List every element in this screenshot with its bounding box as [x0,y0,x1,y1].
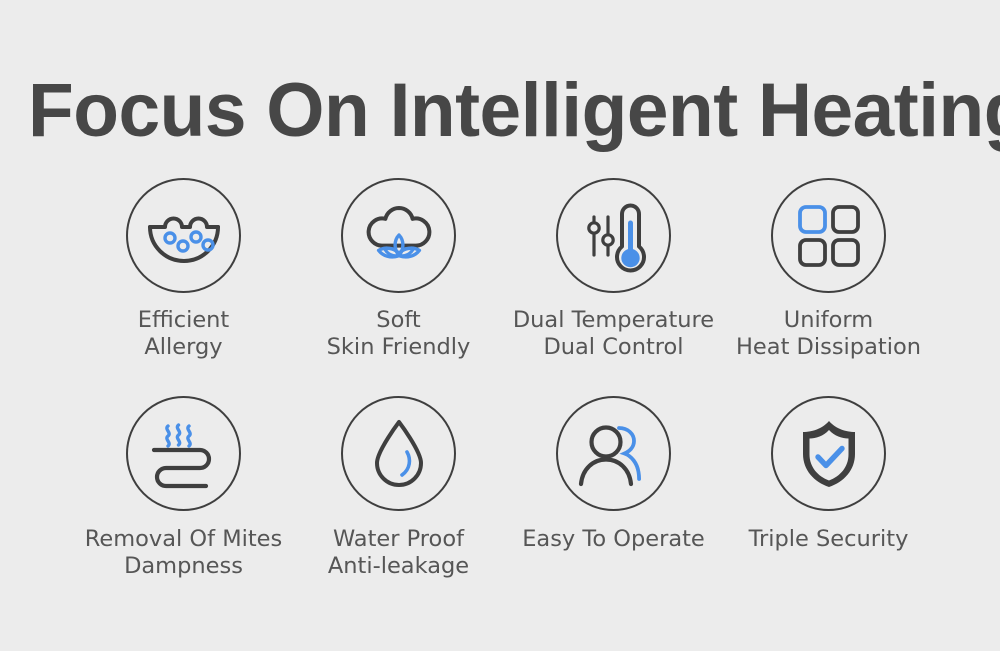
feature-label-line2: Skin Friendly [327,334,471,361]
feature-label: Uniform Heat Dissipation [736,307,921,361]
feature-item-soft-skin-friendly[interactable]: Soft Skin Friendly [291,178,506,396]
icon-badge [556,396,671,511]
feature-grid: Efficient Allergy [0,178,1000,614]
feature-item-water-proof[interactable]: Water Proof Anti-leakage [291,396,506,614]
feature-label-line2: Dual Control [513,334,714,361]
shield-check-icon [798,418,860,490]
feature-label-line2: Dampness [85,553,283,580]
feature-row-2: Removal Of Mites Dampness Water Proof [0,396,1000,614]
feature-label-line1: Water Proof [333,526,464,552]
feature-item-triple-security[interactable]: Triple Security [721,396,936,614]
feature-label-line1: Triple Security [749,526,909,552]
icon-badge [771,396,886,511]
infographic-page: Focus On Intelligent Heating [0,0,1000,651]
feature-label-line1: Removal Of Mites [85,526,283,552]
heating-coil-steam-icon [148,419,220,489]
feature-item-uniform-heat-dissipation[interactable]: Uniform Heat Dissipation [721,178,936,396]
feature-row-1: Efficient Allergy [0,178,1000,396]
feature-item-easy-to-operate[interactable]: Easy To Operate [506,396,721,614]
feature-label: Easy To Operate [522,526,705,553]
two-users-icon [576,420,652,488]
feature-item-dual-temperature[interactable]: Dual Temperature Dual Control [506,178,721,396]
feature-item-efficient-allergy[interactable]: Efficient Allergy [76,178,291,396]
feature-label-line2: Allergy [138,334,230,361]
mite-bowl-icon [145,205,223,267]
icon-badge [341,396,456,511]
thermometer-sliders-icon [577,197,651,275]
icon-badge [556,178,671,293]
feature-label-line1: Soft [376,307,420,333]
feature-label: Dual Temperature Dual Control [513,307,714,361]
feature-label: Water Proof Anti-leakage [328,526,469,580]
icon-badge [126,396,241,511]
feature-item-removal-of-mites[interactable]: Removal Of Mites Dampness [76,396,291,614]
feature-label-line2: Heat Dissipation [736,334,921,361]
icon-badge [771,178,886,293]
feature-label-line1: Dual Temperature [513,307,714,333]
icon-badge [126,178,241,293]
feature-label-line1: Efficient [138,307,230,333]
feature-label: Soft Skin Friendly [327,307,471,361]
feature-label-line2: Anti-leakage [328,553,469,580]
water-drop-icon [371,418,427,490]
four-squares-grid-icon [796,203,862,269]
feature-label: Triple Security [749,526,909,553]
page-title: Focus On Intelligent Heating [28,72,958,150]
icon-badge [341,178,456,293]
feature-label-line1: Uniform [784,307,873,333]
cotton-boll-icon [363,203,435,269]
feature-label-line1: Easy To Operate [522,526,705,552]
feature-label: Removal Of Mites Dampness [85,526,283,580]
feature-label: Efficient Allergy [138,307,230,361]
